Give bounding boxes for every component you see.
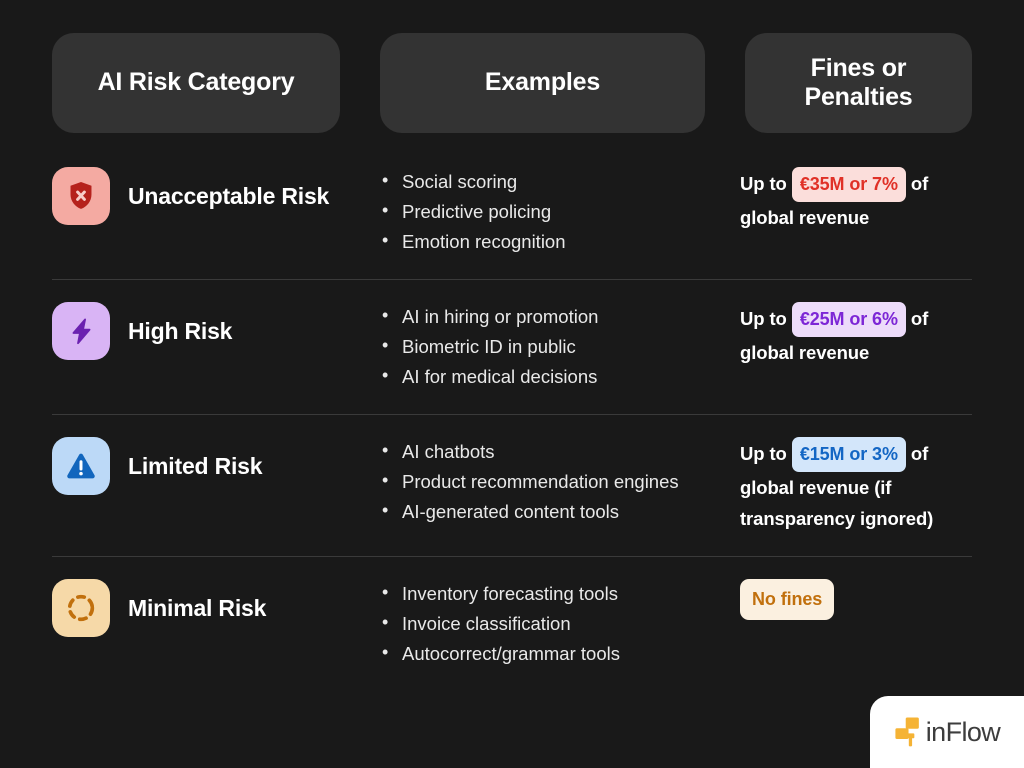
fine-text: Up to €25M or 6% of global revenue — [740, 302, 972, 368]
fine-amount-badge: No fines — [740, 579, 834, 620]
examples-list: Social scoring Predictive policing Emoti… — [380, 167, 740, 257]
list-item: AI in hiring or promotion — [380, 302, 740, 332]
row-fine-cell: Up to €15M or 3% of global revenue (if t… — [740, 415, 972, 556]
risk-category-label: Unacceptable Risk — [128, 182, 329, 210]
header-cell-fines: Fines orPenalties — [745, 33, 972, 133]
logo-wordmark: inFlow — [926, 717, 1000, 748]
risk-icon-tile — [52, 579, 110, 637]
risk-icon-tile — [52, 167, 110, 225]
table-row: High Risk AI in hiring or promotion Biom… — [52, 279, 972, 414]
risk-table-body: Unacceptable Risk Social scoring Predict… — [52, 145, 972, 691]
list-item: Product recommendation engines — [380, 467, 740, 497]
fine-amount-badge: €25M or 6% — [792, 302, 906, 337]
table-row: Unacceptable Risk Social scoring Predict… — [52, 145, 972, 279]
row-fine-cell: Up to €25M or 6% of global revenue — [740, 280, 972, 390]
fine-prefix: Up to — [740, 443, 787, 464]
row-examples-cell: AI chatbots Product recommendation engin… — [380, 415, 740, 549]
fine-amount-badge: €15M or 3% — [792, 437, 906, 472]
row-category-cell: High Risk — [52, 280, 380, 382]
row-category-cell: Minimal Risk — [52, 557, 380, 659]
risk-category-label: Limited Risk — [128, 452, 262, 480]
list-item: Predictive policing — [380, 197, 740, 227]
header-label-fines: Fines orPenalties — [805, 54, 913, 113]
table-header: AI Risk Category Examples Fines orPenalt… — [52, 33, 972, 133]
examples-list: AI chatbots Product recommendation engin… — [380, 437, 740, 527]
lightning-bolt-icon — [66, 314, 96, 348]
brand-logo: inFlow — [870, 696, 1024, 768]
list-item: Invoice classification — [380, 609, 740, 639]
row-category-cell: Limited Risk — [52, 415, 380, 517]
table-row: Minimal Risk Inventory forecasting tools… — [52, 556, 972, 691]
fine-amount-badge: €35M or 7% — [792, 167, 906, 202]
row-examples-cell: AI in hiring or promotion Biometric ID i… — [380, 280, 740, 414]
examples-list: Inventory forecasting tools Invoice clas… — [380, 579, 740, 669]
risk-icon-tile — [52, 437, 110, 495]
list-item: Biometric ID in public — [380, 332, 740, 362]
row-examples-cell: Inventory forecasting tools Invoice clas… — [380, 557, 740, 691]
header-cell-category: AI Risk Category — [52, 33, 340, 133]
list-item: Social scoring — [380, 167, 740, 197]
list-item: AI chatbots — [380, 437, 740, 467]
warning-triangle-icon — [64, 449, 98, 483]
fine-text: Up to €15M or 3% of global revenue (if t… — [740, 437, 972, 534]
list-item: Emotion recognition — [380, 227, 740, 257]
fine-prefix: Up to — [740, 173, 787, 194]
row-category-cell: Unacceptable Risk — [52, 145, 380, 247]
fine-text: No fines — [740, 579, 972, 620]
inflow-logo-mark — [894, 716, 924, 748]
header-label-examples: Examples — [485, 68, 600, 98]
table-row: Limited Risk AI chatbots Product recomme… — [52, 414, 972, 556]
fine-text: Up to €35M or 7% of global revenue — [740, 167, 972, 233]
dashed-circle-icon — [64, 591, 98, 625]
list-item: AI for medical decisions — [380, 362, 740, 392]
row-examples-cell: Social scoring Predictive policing Emoti… — [380, 145, 740, 279]
risk-icon-tile — [52, 302, 110, 360]
list-item: AI-generated content tools — [380, 497, 740, 527]
header-cell-examples: Examples — [380, 33, 705, 133]
risk-category-label: High Risk — [128, 317, 232, 345]
examples-list: AI in hiring or promotion Biometric ID i… — [380, 302, 740, 392]
row-fine-cell: No fines — [740, 557, 972, 642]
shield-x-icon — [64, 179, 98, 213]
row-fine-cell: Up to €35M or 7% of global revenue — [740, 145, 972, 255]
header-label-category: AI Risk Category — [98, 68, 295, 98]
infographic-page: AI Risk Category Examples Fines orPenalt… — [0, 0, 1024, 768]
list-item: Inventory forecasting tools — [380, 579, 740, 609]
fine-prefix: Up to — [740, 308, 787, 329]
risk-category-label: Minimal Risk — [128, 594, 266, 622]
list-item: Autocorrect/grammar tools — [380, 639, 740, 669]
